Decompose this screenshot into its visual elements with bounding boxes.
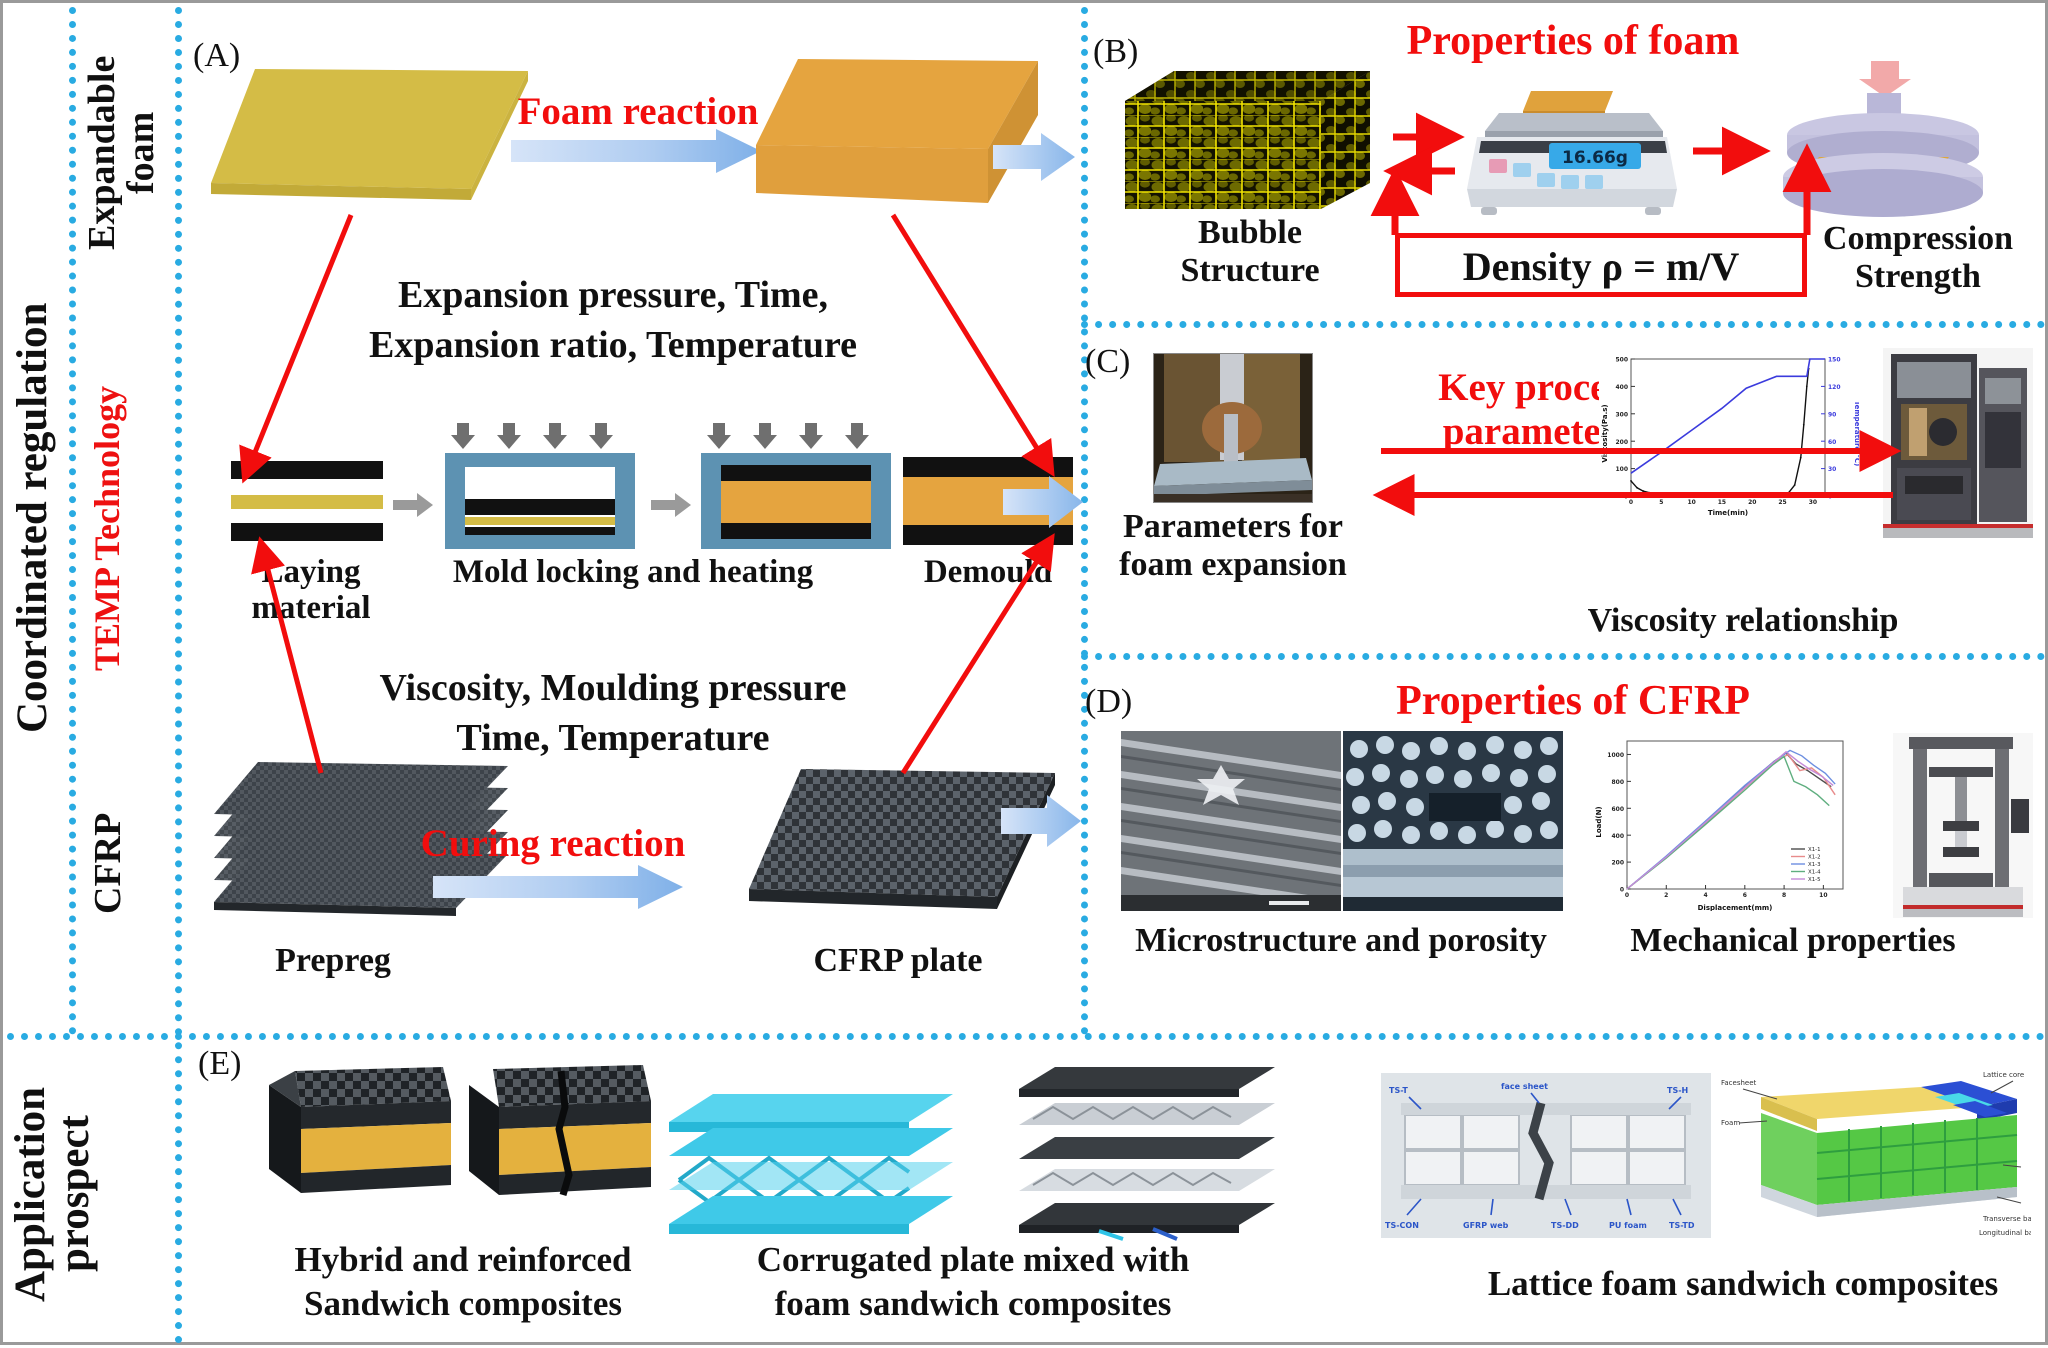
- viscosity-relationship-chart: 0100200300400500051015202530030609012015…: [1599, 351, 1859, 516]
- lattice-foam-photo: TS-T face sheet TS-H TS-CON GFRP web TS-…: [1381, 1073, 1711, 1238]
- svg-text:200: 200: [1615, 439, 1628, 446]
- arrow-temp-to-key-process: [1003, 473, 1083, 531]
- svg-text:TS-H: TS-H: [1667, 1086, 1688, 1095]
- svg-text:300: 300: [1615, 411, 1628, 418]
- svg-text:face sheet: face sheet: [1501, 1082, 1548, 1091]
- bubble-structure-caption-line1: Bubble: [1125, 215, 1375, 252]
- svg-text:2: 2: [1664, 892, 1668, 899]
- corrugated-caption-line1: Corrugated plate mixed with: [643, 1241, 1303, 1279]
- svg-text:60: 60: [1828, 439, 1836, 446]
- svg-text:TS-T: TS-T: [1389, 1086, 1408, 1095]
- panel-tag-e: (E): [198, 1045, 241, 1083]
- panel-tag-d: (D): [1085, 683, 1132, 721]
- density-formula-label: Density ρ = m/V: [1395, 245, 1807, 288]
- svg-text:X1-5: X1-5: [1808, 877, 1821, 883]
- svg-text:30: 30: [1828, 466, 1836, 473]
- arrow-cfrp-to-properties: [1001, 793, 1081, 849]
- process-arrow-2: [651, 491, 691, 519]
- figure-root: Coordinated regulation Application prosp…: [0, 0, 2048, 1345]
- cfrp-plate-label: CFRP plate: [733, 943, 1063, 980]
- lattice-foam-3d-drawing: Facesheet Foam Lattice core Transverse b…: [1721, 1069, 2031, 1244]
- row-label-temp-technology: TEMP Technology: [89, 348, 163, 708]
- divider-horizontal-application: [7, 1033, 2045, 1040]
- svg-text:120: 120: [1828, 384, 1841, 391]
- svg-text:5: 5: [1659, 499, 1663, 506]
- bubble-structure-caption-line2: Structure: [1125, 253, 1375, 290]
- row-label-coordinated-regulation: Coordinated regulation: [11, 63, 67, 973]
- svg-text:1000: 1000: [1607, 752, 1624, 759]
- expansion-parameters-line2: Expansion ratio, Temperature: [303, 325, 923, 366]
- svg-text:Facesheet: Facesheet: [1721, 1079, 1757, 1087]
- svg-text:Displacement(mm): Displacement(mm): [1698, 904, 1773, 911]
- svg-text:Load(N): Load(N): [1595, 806, 1603, 837]
- svg-text:200: 200: [1611, 860, 1624, 867]
- svg-text:Foam: Foam: [1721, 1119, 1740, 1127]
- svg-text:X1-4: X1-4: [1808, 870, 1821, 876]
- svg-text:600: 600: [1611, 806, 1624, 813]
- divider-vertical-outer: [69, 7, 76, 1035]
- mold-locking-diagram: [443, 423, 643, 553]
- prepreg-label: Prepreg: [218, 943, 448, 980]
- svg-text:Transverse bar: Transverse bar: [1982, 1215, 2031, 1223]
- process-arrow-1: [393, 491, 433, 519]
- panel-tag-b: (B): [1093, 33, 1138, 71]
- microstructure-caption: Microstructure and porosity: [1101, 923, 1581, 960]
- svg-text:0: 0: [1629, 499, 1633, 506]
- svg-text:Time(min): Time(min): [1708, 509, 1748, 516]
- svg-text:500: 500: [1615, 357, 1628, 364]
- mechanical-properties-caption: Mechanical properties: [1583, 923, 2003, 960]
- divider-horizontal-b-c: [1081, 321, 2045, 328]
- svg-text:TS-DD: TS-DD: [1551, 1221, 1579, 1230]
- row-label-cfrp: CFRP: [89, 773, 163, 953]
- svg-text:Temperature(°C): Temperature(°C): [1853, 401, 1859, 466]
- svg-text:0: 0: [1624, 494, 1628, 501]
- sem-microstructure-image: [1121, 731, 1341, 911]
- viscosity-parameters-line2: Time, Temperature: [293, 718, 933, 759]
- panel-d-title: Properties of CFRP: [1323, 679, 1823, 724]
- electronic-balance-image: 16.66g: [1453, 85, 1683, 225]
- svg-text:15: 15: [1718, 499, 1726, 506]
- foam-expansion-caption-line1: Parameters for: [1103, 509, 1363, 546]
- porosity-cross-section-image: [1343, 731, 1563, 911]
- expandable-foam-sheet: [203, 61, 533, 211]
- foam-expansion-caption-line2: foam expansion: [1103, 547, 1363, 584]
- viscosity-parameters-line1: Viscosity, Moulding pressure: [293, 668, 933, 709]
- svg-text:0: 0: [1620, 887, 1624, 894]
- arrow-foam-to-properties: [993, 131, 1075, 183]
- hybrid-caption-line2: Sandwich composites: [218, 1285, 708, 1323]
- mold-heating-diagram: [699, 423, 899, 553]
- divider-horizontal-c-d: [1081, 653, 2045, 660]
- svg-text:X1-1: X1-1: [1808, 847, 1821, 853]
- svg-text:X1-3: X1-3: [1808, 862, 1821, 868]
- panel-tag-c: (C): [1085, 343, 1130, 381]
- svg-text:10: 10: [1687, 499, 1695, 506]
- rheometer-image: [1883, 348, 2033, 538]
- svg-text:PU foam: PU foam: [1609, 1221, 1647, 1230]
- foam-reaction-arrow: [511, 129, 761, 173]
- svg-text:400: 400: [1615, 384, 1628, 391]
- mold-locking-label: Mold locking and heating: [423, 555, 843, 591]
- svg-text:TS-CON: TS-CON: [1385, 1221, 1419, 1230]
- compression-fixture-image: [1763, 61, 2003, 221]
- laying-material-label-line2: material: [231, 591, 391, 627]
- svg-text:16.66g: 16.66g: [1562, 148, 1628, 168]
- svg-text:0: 0: [1625, 892, 1629, 899]
- svg-text:4: 4: [1703, 892, 1707, 899]
- compression-strength-caption-line2: Strength: [1793, 259, 2043, 296]
- hybrid-sandwich-photo-2: [465, 1063, 655, 1231]
- universal-testing-machine-image: [1893, 733, 2033, 918]
- svg-text:800: 800: [1611, 779, 1624, 786]
- svg-text:X1-2: X1-2: [1808, 855, 1821, 861]
- corrugated-foam-exploded-diagram: [1003, 1063, 1303, 1243]
- svg-text:GFRP web: GFRP web: [1463, 1221, 1509, 1230]
- divider-vertical-sublabels: [175, 7, 182, 1344]
- svg-text:400: 400: [1611, 833, 1624, 840]
- svg-text:100: 100: [1615, 466, 1628, 473]
- foam-reaction-label: Foam reaction: [503, 91, 773, 133]
- svg-text:0: 0: [1828, 494, 1832, 501]
- svg-text:25: 25: [1778, 499, 1786, 506]
- laying-material-label-line1: Laying: [241, 555, 381, 591]
- svg-text:Lattice core: Lattice core: [1983, 1071, 2024, 1079]
- curing-reaction-label: Curing reaction: [403, 823, 703, 865]
- corrugated-plate-diagram: [653, 1088, 983, 1238]
- svg-text:90: 90: [1828, 411, 1836, 418]
- expansion-parameters-line1: Expansion pressure, Time,: [303, 275, 923, 316]
- lattice-caption: Lattice foam sandwich composites: [1443, 1265, 2043, 1303]
- hybrid-sandwich-photo-1: [265, 1065, 455, 1230]
- viscosity-relationship-caption: Viscosity relationship: [1523, 603, 1963, 640]
- bubble-structure-image: [1125, 71, 1375, 211]
- hybrid-caption-line1: Hybrid and reinforced: [218, 1241, 708, 1279]
- svg-text:30: 30: [1809, 499, 1817, 506]
- row-label-expandable-foam: Expandable foam: [83, 33, 171, 273]
- svg-text:150: 150: [1828, 357, 1841, 364]
- foam-expansion-photo: [1153, 353, 1313, 503]
- svg-text:6: 6: [1743, 892, 1747, 899]
- svg-text:10: 10: [1819, 892, 1827, 899]
- svg-text:8: 8: [1782, 892, 1786, 899]
- svg-text:Longitudinal bar: Longitudinal bar: [1979, 1229, 2031, 1237]
- row-label-application-prospect: Application prospect: [9, 1049, 169, 1339]
- compression-strength-caption-line1: Compression: [1793, 221, 2043, 258]
- laying-material-stack: [231, 461, 383, 549]
- svg-text:TS-TD: TS-TD: [1669, 1221, 1695, 1230]
- demould-label: Demould: [893, 555, 1083, 591]
- curing-reaction-arrow: [433, 865, 683, 909]
- svg-text:20: 20: [1748, 499, 1756, 506]
- corrugated-caption-line2: foam sandwich composites: [643, 1285, 1303, 1323]
- svg-text:Viscosity(Pa.s): Viscosity(Pa.s): [1601, 404, 1609, 462]
- mechanical-properties-chart: 020040060080010000246810Load(N)Displacem…: [1593, 733, 1853, 911]
- panel-b-title: Properties of foam: [1293, 19, 1853, 64]
